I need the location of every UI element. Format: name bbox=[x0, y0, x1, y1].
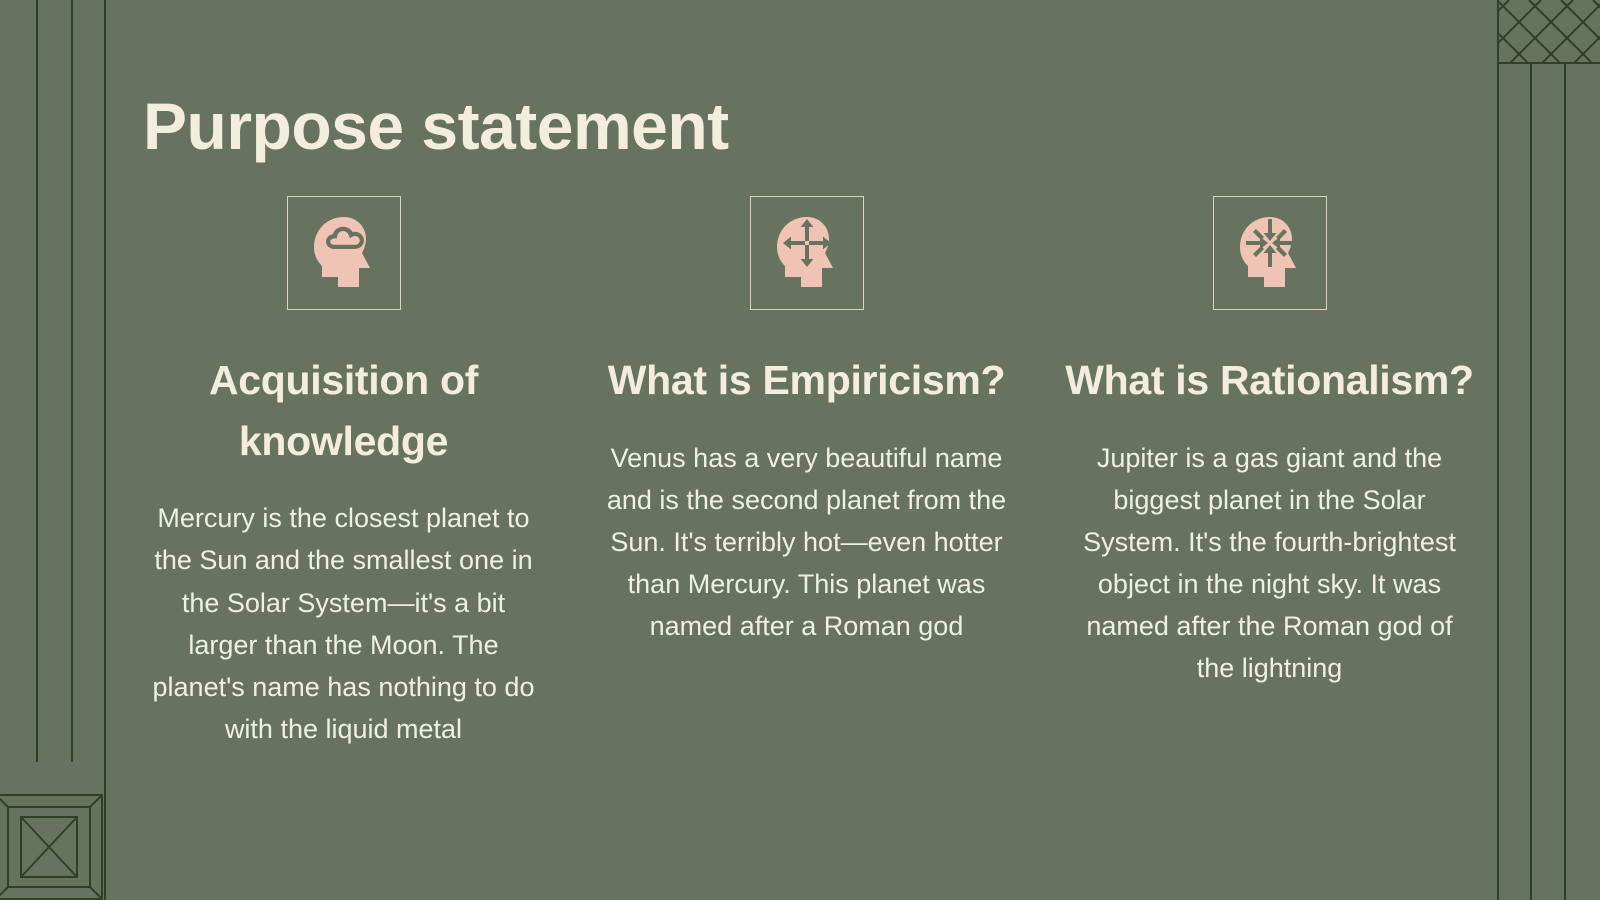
head-cloud-icon bbox=[308, 215, 380, 291]
feature-body-3: Jupiter is a gas giant and the biggest p… bbox=[1072, 437, 1468, 690]
page-title: Purpose statement bbox=[143, 92, 729, 161]
icon-frame-2 bbox=[750, 196, 864, 310]
feature-heading-1: Acquisition of knowledge bbox=[134, 350, 554, 471]
icon-frame-1 bbox=[287, 196, 401, 310]
feature-body-2: Venus has a very beautiful name and is t… bbox=[607, 437, 1007, 648]
feature-columns: Acquisition of knowledge Mercury is the … bbox=[112, 196, 1502, 750]
head-arrows-out-icon bbox=[771, 215, 843, 291]
feature-column-2: What is Empiricism? Venus has a very bea… bbox=[575, 196, 1038, 750]
feature-heading-2: What is Empiricism? bbox=[597, 350, 1017, 411]
feature-column-3: What is Rationalism? Jupiter is a gas gi… bbox=[1038, 196, 1501, 750]
feature-body-1: Mercury is the closest planet to the Sun… bbox=[146, 497, 541, 750]
head-arrows-in-icon bbox=[1234, 215, 1306, 291]
feature-heading-3: What is Rationalism? bbox=[1060, 350, 1480, 411]
icon-frame-3 bbox=[1213, 196, 1327, 310]
feature-column-1: Acquisition of knowledge Mercury is the … bbox=[112, 196, 575, 750]
slide-content: Purpose statement Acquisition of knowled… bbox=[0, 0, 1600, 900]
